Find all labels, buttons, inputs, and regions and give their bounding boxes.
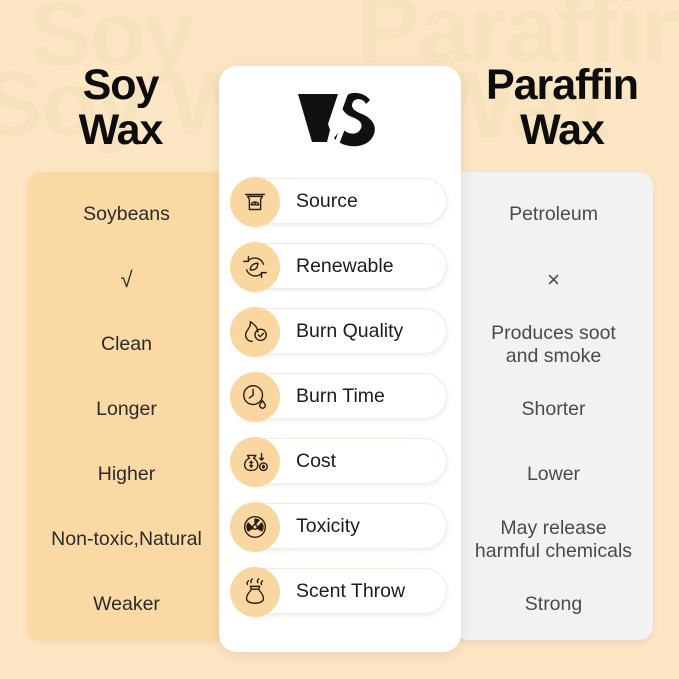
attribute-label: Source <box>296 190 358 213</box>
heading-soy-wax: Soy Wax <box>8 63 233 153</box>
radiation-icon <box>230 502 280 552</box>
comparison-center-card: SourceRenewableBurn QualityBurn TimeCost… <box>219 66 461 652</box>
soy-wax-value: Soybeans <box>83 203 170 225</box>
attribute-pill-source[interactable]: Source <box>233 178 447 224</box>
recycle-leaf-icon <box>230 242 280 292</box>
soy-wax-row: Soybeans <box>27 182 226 247</box>
attribute-pill-cost[interactable]: Cost <box>233 438 447 484</box>
heading-paraffin-wax-text: Paraffin Wax <box>486 61 638 154</box>
clock-flame-icon <box>230 372 280 422</box>
attribute-rows: SourceRenewableBurn QualityBurn TimeCost… <box>219 178 461 633</box>
paraffin-wax-value: Shorter <box>522 398 586 420</box>
paraffin-wax-row: Shorter <box>454 377 653 442</box>
soy-wax-row: Non-toxic,Natural <box>27 507 226 572</box>
paraffin-wax-row: × <box>454 247 653 312</box>
soy-wax-value: Non-toxic,Natural <box>51 528 202 550</box>
scent-sachet-icon <box>230 567 280 617</box>
soy-wax-value: Longer <box>96 398 157 420</box>
paraffin-wax-value: Lower <box>527 463 580 485</box>
attribute-label: Renewable <box>296 255 394 278</box>
attribute-pill-renewable[interactable]: Renewable <box>233 243 447 289</box>
paraffin-wax-row: Strong <box>454 572 653 637</box>
paraffin-wax-value: Produces soot and smoke <box>491 322 616 366</box>
soy-wax-row: Weaker <box>27 572 226 637</box>
attribute-pill-burn-quality[interactable]: Burn Quality <box>233 308 447 354</box>
attribute-pill-burn-time[interactable]: Burn Time <box>233 373 447 419</box>
soy-wax-values-panel: Soybeans√CleanLongerHigherNon-toxic,Natu… <box>27 172 226 640</box>
attribute-pill-scent-throw[interactable]: Scent Throw <box>233 568 447 614</box>
soy-wax-value: Clean <box>101 333 152 355</box>
paraffin-wax-row: Produces soot and smoke <box>454 312 653 377</box>
soy-wax-row: √ <box>27 247 226 312</box>
attribute-label: Scent Throw <box>296 580 405 603</box>
money-bag-icon <box>230 437 280 487</box>
soy-wax-value: Weaker <box>93 593 160 615</box>
soy-wax-row: Higher <box>27 442 226 507</box>
heading-paraffin-wax: Paraffin Wax <box>445 63 679 153</box>
soy-wax-row: Clean <box>27 312 226 377</box>
attribute-label: Burn Quality <box>296 320 403 343</box>
soy-wax-value: √ <box>120 267 132 292</box>
infographic-canvas: Soy Soy Wax Paraffin Wax Soy Wax Paraffi… <box>0 0 679 679</box>
paraffin-wax-value: Petroleum <box>509 203 598 225</box>
attribute-pill-toxicity[interactable]: Toxicity <box>233 503 447 549</box>
vs-badge <box>219 80 461 172</box>
paraffin-wax-value: × <box>547 267 560 292</box>
attribute-label: Cost <box>296 450 336 473</box>
attribute-label: Toxicity <box>296 515 360 538</box>
paraffin-wax-value: May release harmful chemicals <box>475 517 632 561</box>
paraffin-wax-value: Strong <box>525 593 582 615</box>
sack-leaf-icon <box>230 177 280 227</box>
paraffin-wax-row: Petroleum <box>454 182 653 247</box>
attribute-label: Burn Time <box>296 385 385 408</box>
paraffin-wax-row: Lower <box>454 442 653 507</box>
heading-soy-wax-text: Soy Wax <box>79 61 163 154</box>
paraffin-wax-values-panel: Petroleum×Produces soot and smokeShorter… <box>454 172 653 640</box>
soy-wax-row: Longer <box>27 377 226 442</box>
paraffin-wax-row: May release harmful chemicals <box>454 507 653 572</box>
flame-check-icon <box>230 307 280 357</box>
vs-logo-icon <box>294 84 386 168</box>
soy-wax-value: Higher <box>98 463 155 485</box>
